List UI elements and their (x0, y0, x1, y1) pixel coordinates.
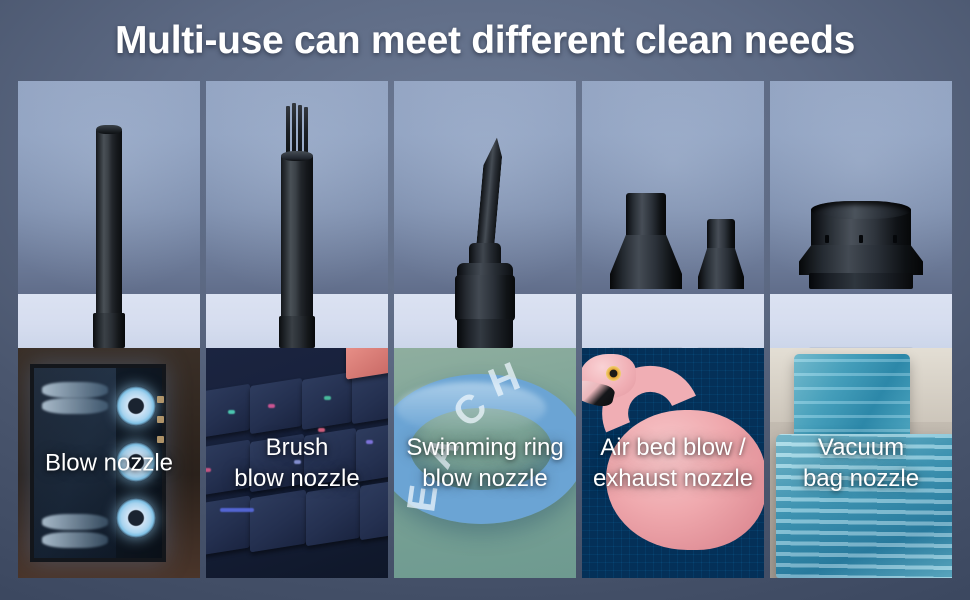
nozzle-vent-slot (859, 235, 863, 243)
scene-vacuum-storage-bags: Vacuum bag nozzle (770, 348, 952, 578)
panel-grid: Blow nozzle (18, 81, 952, 578)
product-photo-angled-flat-nozzle (394, 81, 576, 348)
caption-line: Swimming ring (398, 432, 572, 463)
panel-caption: Air bed blow / exhaust nozzle (582, 432, 764, 494)
bottom-fan-blur (42, 514, 108, 530)
keycap (206, 495, 250, 556)
panel-blow-nozzle[interactable]: Blow nozzle (18, 81, 200, 578)
keycap (302, 372, 352, 430)
large-cone-nozzle (610, 193, 682, 289)
keycap (250, 378, 302, 434)
panel-caption: Blow nozzle (18, 448, 200, 479)
brush-collar (281, 151, 313, 161)
studio-floor (582, 294, 764, 348)
panel-brush-blow-nozzle[interactable]: Brush blow nozzle (206, 81, 388, 578)
key-legend (268, 404, 275, 408)
key-legend (324, 396, 331, 400)
panel-caption: Vacuum bag nozzle (770, 432, 952, 494)
flat-blade-tip (476, 137, 504, 250)
caption-line: bag nozzle (774, 463, 948, 494)
key-legend (228, 410, 235, 414)
panel-air-bed-blow-exhaust-nozzle[interactable]: Air bed blow / exhaust nozzle (582, 81, 764, 578)
infographic-stage: Multi-use can meet different clean needs (0, 0, 970, 600)
panel-vacuum-bag-nozzle[interactable]: Vacuum bag nozzle (770, 81, 952, 578)
rgb-fan (116, 498, 156, 538)
caption-line: Air bed blow / (586, 432, 760, 463)
tube-base (93, 313, 125, 348)
brush-bristle (286, 106, 290, 156)
page-title: Multi-use can meet different clean needs (0, 18, 970, 64)
front-led (157, 396, 164, 403)
small-cone-nozzle (698, 219, 744, 289)
top-fan-blur (42, 382, 108, 398)
product-photo-cone-nozzle-pair (582, 81, 764, 348)
panel-swimming-ring-blow-nozzle[interactable]: H C A E Swimming ring blow nozzle (394, 81, 576, 578)
product-photo-brush-blow-tube (206, 81, 388, 348)
nozzle-rim (811, 201, 911, 219)
nozzle-base-ring (457, 319, 513, 348)
front-led (157, 436, 164, 443)
top-fan-blur (42, 398, 108, 414)
scene-gaming-pc-case: Blow nozzle (18, 348, 200, 578)
panel-caption: Brush blow nozzle (206, 432, 388, 494)
keycap (250, 490, 306, 553)
panel-caption: Swimming ring blow nozzle (394, 432, 576, 494)
vacuum-bag-nozzle (799, 201, 923, 289)
nozzle-flange (799, 245, 923, 275)
cone-spout (626, 193, 666, 239)
caption-line: blow nozzle (398, 463, 572, 494)
scene-mechanical-keyboard: Brush blow nozzle (206, 348, 388, 578)
cone-skirt (698, 248, 744, 289)
product-photo-straight-blow-tube (18, 81, 200, 348)
key-legend (220, 508, 254, 512)
brush-bristle (304, 107, 308, 157)
nozzle-body (455, 275, 515, 321)
cone-skirt (610, 235, 682, 289)
caption-line: Blow nozzle (22, 448, 196, 479)
scene-flamingo-pool-float: Air bed blow / exhaust nozzle (582, 348, 764, 578)
scene-swimming-ring-in-pool: H C A E Swimming ring blow nozzle (394, 348, 576, 578)
brush-bristle (292, 103, 296, 156)
tube-body (96, 128, 122, 321)
brush-bristle (298, 105, 302, 155)
nozzle-vent-slot (825, 235, 829, 243)
tube-body (281, 153, 313, 323)
caption-line: Vacuum (774, 432, 948, 463)
front-led (157, 416, 164, 423)
rgb-fan (116, 386, 156, 426)
product-photo-wide-vacuum-bag-nozzle (770, 81, 952, 348)
bottom-fan-blur (42, 532, 108, 548)
tube-base (279, 316, 315, 348)
caption-line: exhaust nozzle (586, 463, 760, 494)
cone-spout (707, 219, 735, 251)
nozzle-foot (809, 273, 913, 289)
flamingo-eye (606, 366, 621, 381)
tube-tip (96, 125, 122, 134)
caption-line: Brush (210, 432, 384, 463)
nozzle-vent-slot (893, 235, 897, 243)
studio-floor (770, 294, 952, 348)
caption-line: blow nozzle (210, 463, 384, 494)
